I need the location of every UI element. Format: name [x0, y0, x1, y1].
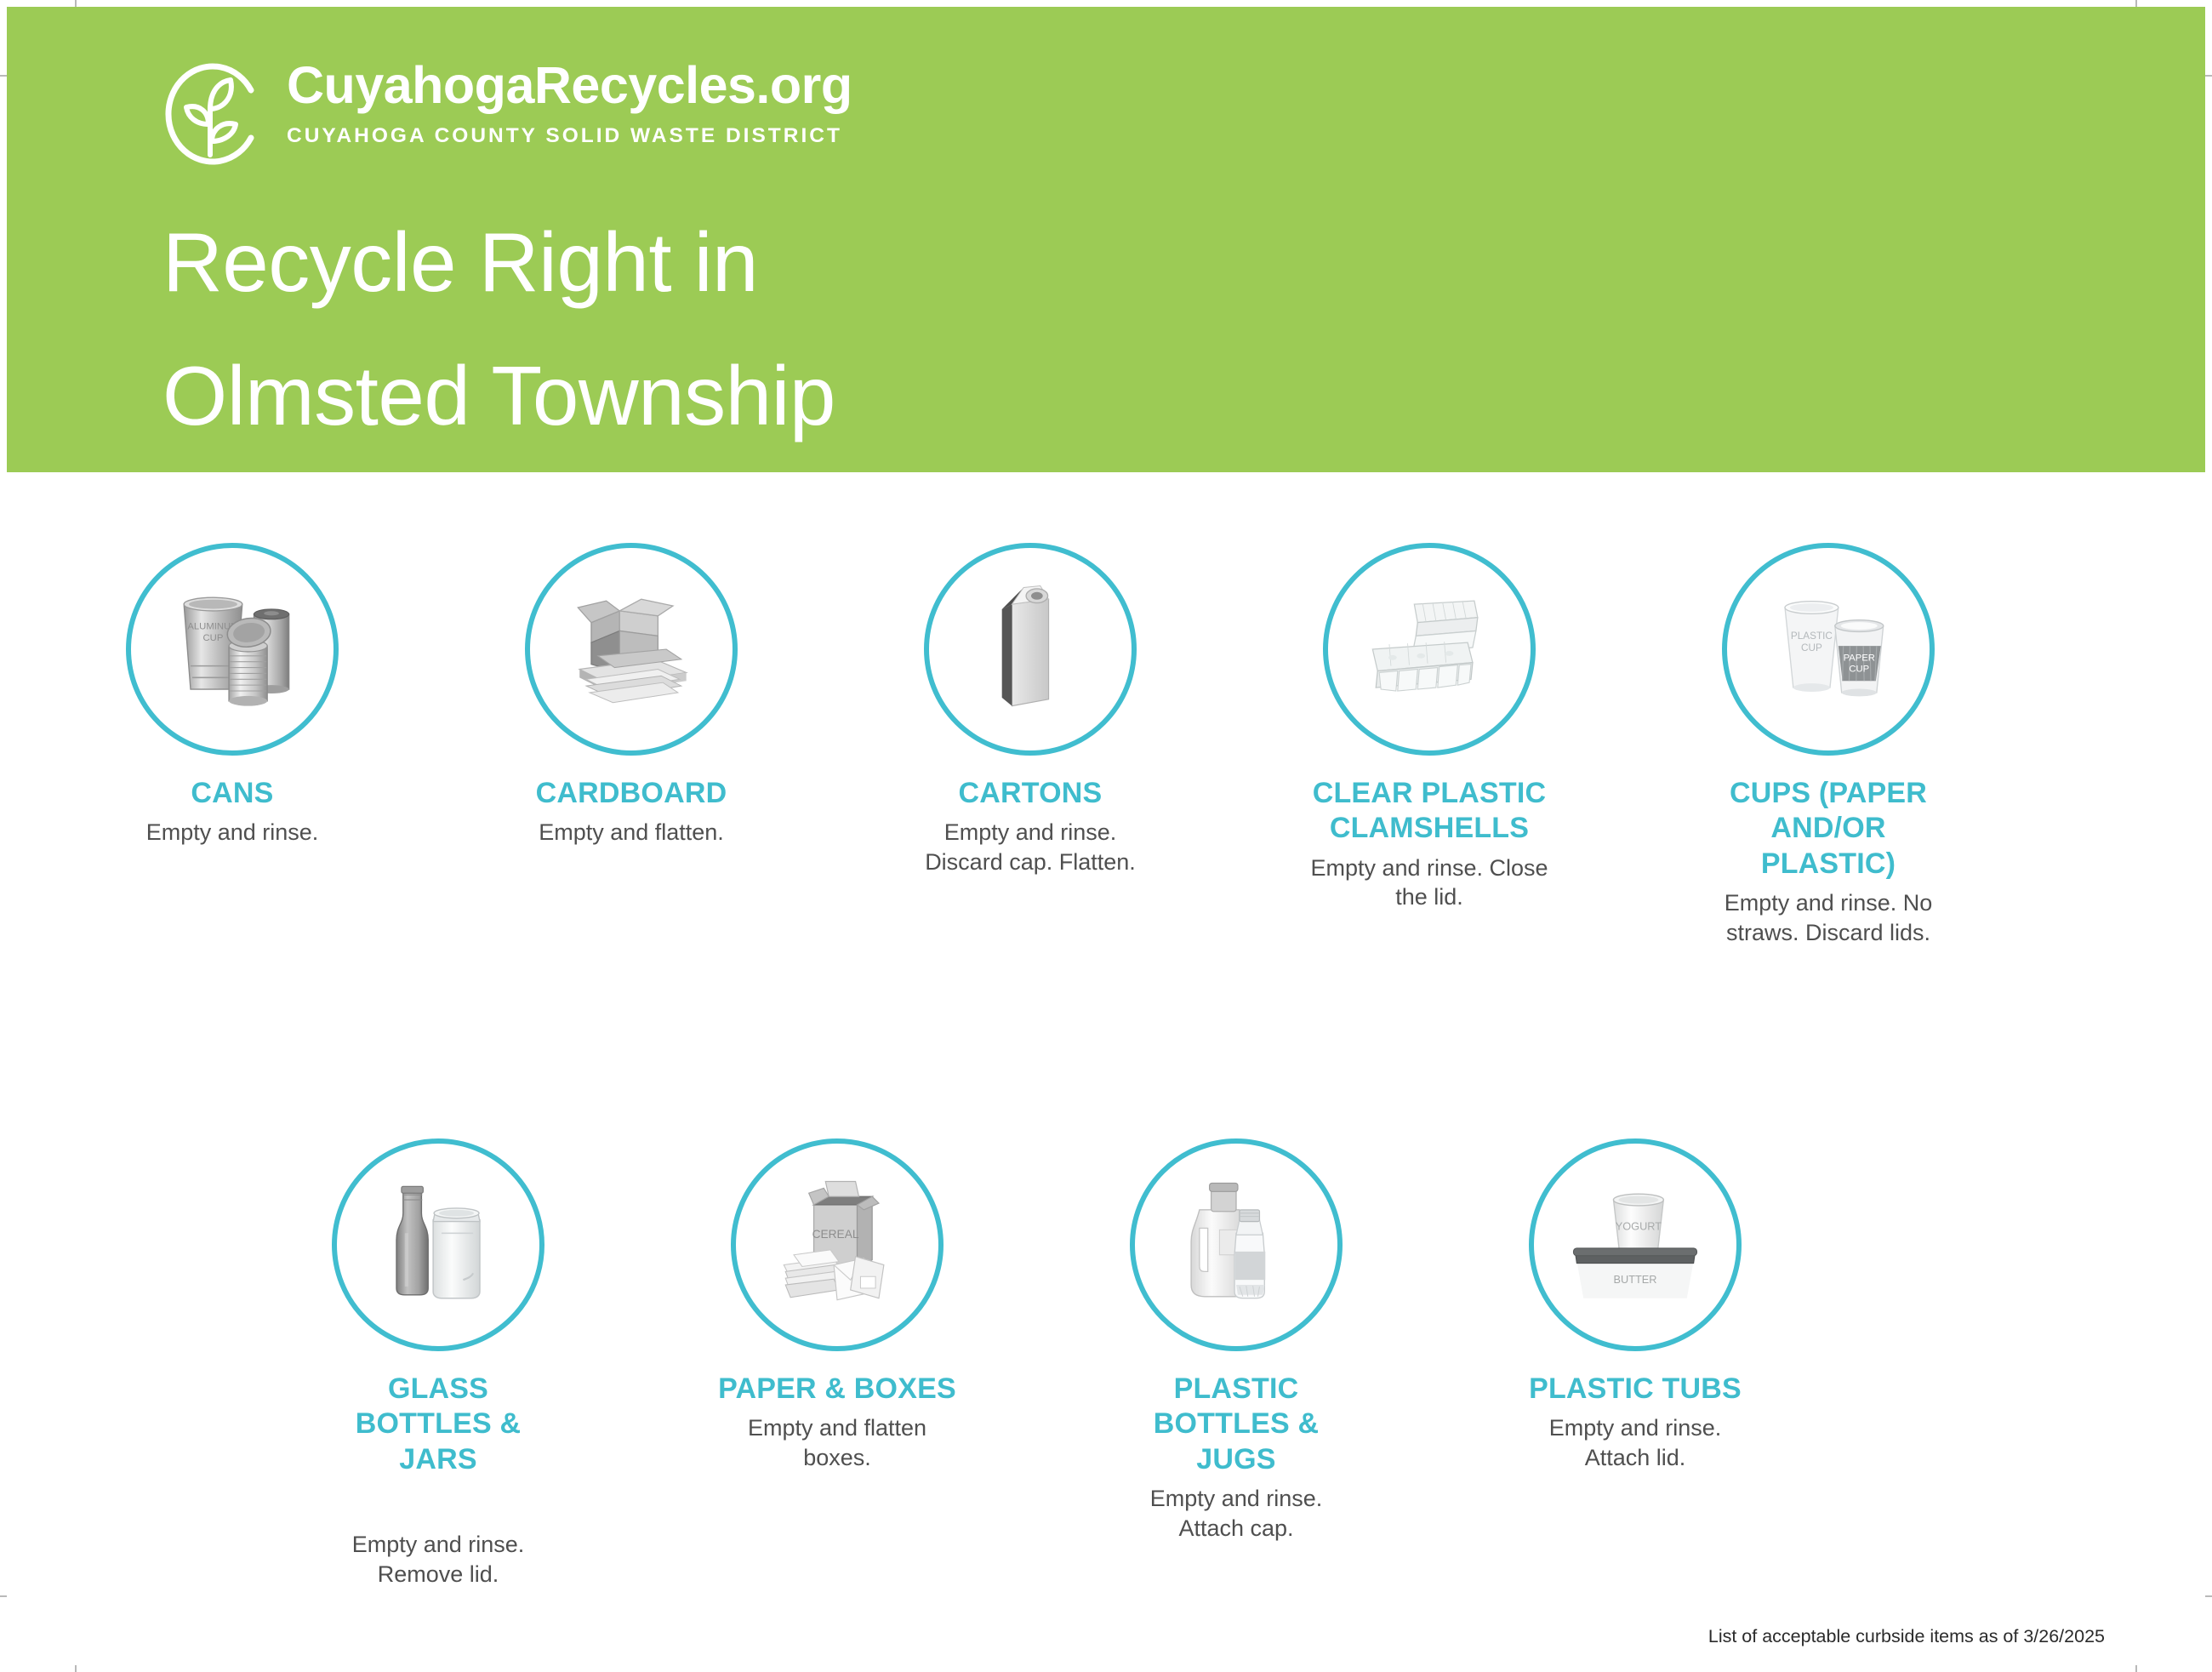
- item-cardboard: CARDBOARD Empty and flatten.: [510, 543, 752, 847]
- plastic-tubs-icon: YOGURT BUTTER: [1529, 1138, 1742, 1351]
- plastic-bottle-jug-icon: [1130, 1138, 1343, 1351]
- item-paper-and-boxes: CEREAL PAPER & BOXES Empty and flatten b…: [716, 1138, 958, 1473]
- item-description: Empty and rinse.: [111, 818, 353, 847]
- page-title-line-2: Olmsted Township: [162, 329, 1524, 463]
- accepted-items-row-1: ALUMINUM CUP: [111, 543, 2119, 948]
- cups-icon: PLASTIC CUP PAPER CUP: [1722, 543, 1935, 756]
- carton-icon: [924, 543, 1137, 756]
- item-title: CANS: [111, 776, 353, 811]
- item-description: Empty and flatten.: [510, 818, 752, 847]
- item-title: PLASTIC TUBS: [1514, 1372, 1756, 1407]
- page-title-line-1: Recycle Right in: [162, 196, 1524, 329]
- leaf-circle-logo-icon: [156, 60, 265, 168]
- plastic-cup-label-line1: PLASTIC: [1791, 631, 1833, 642]
- yogurt-tub-label: YOGURT: [1616, 1219, 1662, 1232]
- item-title: PAPER & BOXES: [716, 1372, 958, 1407]
- poster-sheet: CuyahogaRecycles.org CUYAHOGA COUNTY SOL…: [7, 7, 2205, 1665]
- item-description: Empty and rinse. Remove lid.: [317, 1530, 559, 1589]
- item-cartons: CARTONS Empty and rinse. Discard cap. Fl…: [909, 543, 1151, 877]
- accepted-items-row-2: GLASS BOTTLES & JARS Empty and rinse. Re…: [317, 1138, 1934, 1589]
- item-title: CLEAR PLASTIC CLAMSHELLS: [1308, 776, 1550, 847]
- item-title: GLASS BOTTLES & JARS: [317, 1372, 559, 1477]
- item-title: CUPS (PAPER AND/OR PLASTIC): [1707, 776, 1949, 882]
- header-band: CuyahogaRecycles.org CUYAHOGA COUNTY SOL…: [7, 7, 2205, 472]
- item-title: CARTONS: [909, 776, 1151, 811]
- item-title: PLASTIC BOTTLES & JUGS: [1115, 1372, 1357, 1477]
- paper-cup-label-line1: PAPER: [1844, 653, 1875, 664]
- item-plastic-bottles-and-jugs: PLASTIC BOTTLES & JUGS Empty and rinse. …: [1115, 1138, 1357, 1544]
- item-description: Empty and rinse. Close the lid.: [1308, 853, 1550, 912]
- item-description: Empty and rinse. Attach lid.: [1514, 1413, 1756, 1472]
- paper-cup-label-line2: CUP: [1849, 664, 1869, 674]
- plastic-cup-label-line2: CUP: [1801, 642, 1822, 653]
- footer-note: List of acceptable curbside items as of …: [1708, 1626, 2105, 1647]
- clamshell-icon: [1323, 543, 1536, 756]
- item-description: Empty and flatten boxes.: [716, 1413, 958, 1472]
- item-cans: ALUMINUM CUP: [111, 543, 353, 847]
- item-clear-plastic-clamshells: CLEAR PLASTIC CLAMSHELLS Empty and rinse…: [1308, 543, 1550, 912]
- item-glass-bottles-and-jars: GLASS BOTTLES & JARS Empty and rinse. Re…: [317, 1138, 559, 1589]
- brand-subtitle: CUYAHOGA COUNTY SOLID WASTE DISTRICT: [287, 124, 852, 148]
- aluminum-cup-label-line2: CUP: [203, 633, 224, 643]
- item-description: Empty and rinse. Attach cap.: [1115, 1484, 1357, 1543]
- glass-bottle-jar-icon: [332, 1138, 544, 1351]
- item-cups: PLASTIC CUP PAPER CUP CUPS (PAPER: [1707, 543, 1949, 948]
- page-title: Recycle Right in Olmsted Township: [162, 196, 1524, 463]
- cardboard-icon: [525, 543, 738, 756]
- paper-boxes-icon: CEREAL: [731, 1138, 944, 1351]
- item-title: CARDBOARD: [510, 776, 752, 811]
- item-description: Empty and rinse. No straws. Discard lids…: [1707, 888, 1949, 947]
- cans-icon: ALUMINUM CUP: [126, 543, 339, 756]
- butter-tub-label: BUTTER: [1614, 1273, 1657, 1286]
- item-plastic-tubs: YOGURT BUTTER PLASTIC TUBS Empty and rin…: [1514, 1138, 1756, 1473]
- cereal-box-label: CEREAL: [812, 1228, 859, 1241]
- item-description: Empty and rinse. Discard cap. Flatten.: [909, 818, 1151, 876]
- brand-name: CuyahogaRecycles.org: [287, 60, 852, 111]
- brand-lockup: CuyahogaRecycles.org CUYAHOGA COUNTY SOL…: [156, 60, 852, 168]
